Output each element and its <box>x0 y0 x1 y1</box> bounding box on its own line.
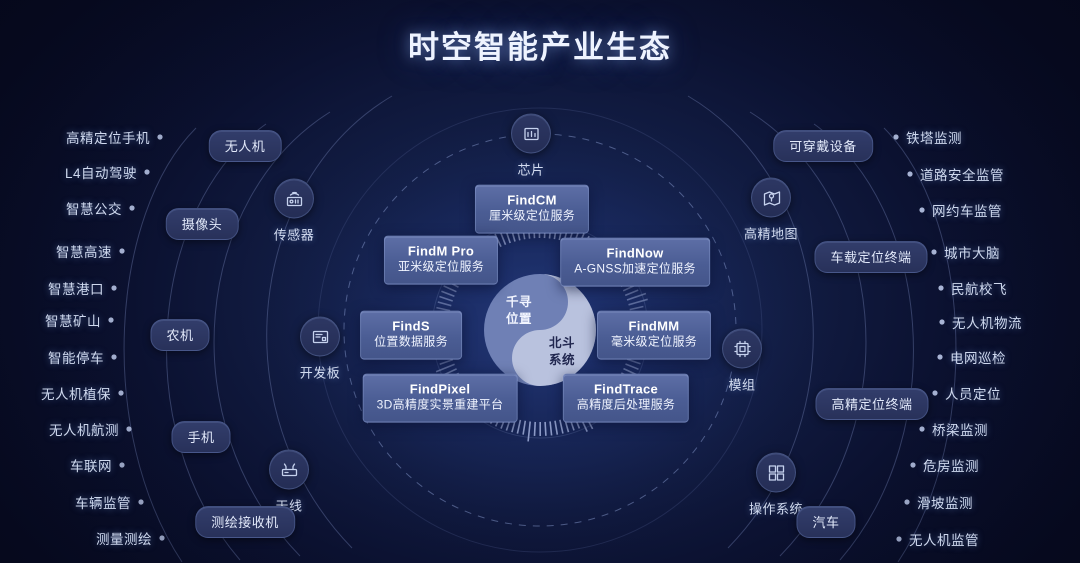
service-name: FindPixel <box>377 382 504 398</box>
icon-node-map[interactable]: 高精地图 <box>723 178 819 243</box>
scenario-label[interactable]: 无人机植保 <box>41 383 111 403</box>
scenario-label[interactable]: 人员定位 <box>945 383 1001 403</box>
service-box-finds[interactable]: FindS位置数据服务 <box>360 311 462 360</box>
connector-dot <box>931 249 936 254</box>
connector-dot <box>932 390 937 395</box>
connector-dot <box>919 426 924 431</box>
antenna-icon <box>269 450 309 490</box>
scenario-label[interactable]: 危房监测 <box>923 455 979 475</box>
page-title: 时空智能产业生态 <box>0 22 1080 67</box>
scenario-label[interactable]: 无人机物流 <box>952 312 1022 332</box>
core-label-beidou: 北斗 系统 <box>539 335 585 369</box>
connector-dot <box>118 390 123 395</box>
device-pill[interactable]: 车载定位终端 <box>814 241 927 273</box>
service-box-findm-pro[interactable]: FindM Pro亚米级定位服务 <box>384 236 498 285</box>
device-pill[interactable]: 手机 <box>171 421 230 453</box>
yin-yang-icon <box>482 272 598 388</box>
connector-dot <box>138 499 143 504</box>
service-desc: 毫米级定位服务 <box>611 335 697 351</box>
device-pill[interactable]: 无人机 <box>209 130 282 162</box>
icon-node-label: 开发板 <box>300 363 341 382</box>
device-pill[interactable]: 高精定位终端 <box>815 388 928 420</box>
scenario-label[interactable]: 车辆监管 <box>75 492 131 512</box>
connector-dot <box>144 169 149 174</box>
connector-dot <box>919 207 924 212</box>
connector-dot <box>111 354 116 359</box>
icon-node-board[interactable]: 开发板 <box>272 317 368 382</box>
scenario-label[interactable]: 铁塔监测 <box>906 127 962 147</box>
connector-dot <box>907 171 912 176</box>
service-box-findtrace[interactable]: FindTrace高精度后处理服务 <box>563 374 689 423</box>
service-desc: 亚米级定位服务 <box>398 260 484 276</box>
chip-icon <box>511 114 551 154</box>
connector-dot <box>157 134 162 139</box>
icon-node-antenna[interactable]: 天线 <box>241 450 337 515</box>
icon-node-chip[interactable]: 芯片 <box>483 114 579 179</box>
service-desc: 厘米级定位服务 <box>489 209 575 225</box>
scenario-label[interactable]: 车联网 <box>70 455 112 475</box>
icon-node-label: 传感器 <box>274 225 315 244</box>
connector-dot <box>939 319 944 324</box>
icon-node-label: 操作系统 <box>749 499 803 518</box>
scenario-label[interactable]: 滑坡监测 <box>917 492 973 512</box>
scenario-label[interactable]: 智慧矿山 <box>45 310 101 330</box>
connector-dot <box>108 317 113 322</box>
scenario-label[interactable]: 智能停车 <box>48 347 104 367</box>
core-label-qianxun: 千寻 位置 <box>496 294 542 328</box>
module-icon <box>722 329 762 369</box>
scenario-label[interactable]: 智慧港口 <box>48 278 104 298</box>
scenario-label[interactable]: 网约车监管 <box>932 200 1002 220</box>
connector-dot <box>129 205 134 210</box>
scenario-label[interactable]: 智慧高速 <box>56 241 112 261</box>
icon-node-label: 模组 <box>728 375 755 394</box>
connector-dot <box>119 248 124 253</box>
connector-dot <box>937 354 942 359</box>
service-name: FindMM <box>611 319 697 335</box>
device-pill[interactable]: 摄像头 <box>166 208 239 240</box>
scenario-label[interactable]: 测量测绘 <box>96 528 152 548</box>
scenario-label[interactable]: 无人机航测 <box>49 419 119 439</box>
service-name: FindNow <box>574 246 696 262</box>
diagram-canvas: 时空智能产业生态 千寻 位置 北斗 系统 FindCM厘米级定位服务FindM … <box>0 0 1080 563</box>
connector-dot <box>126 426 131 431</box>
device-pill[interactable]: 测绘接收机 <box>195 506 295 538</box>
service-name: FindM Pro <box>398 244 484 260</box>
connector-dot <box>159 535 164 540</box>
scenario-label[interactable]: 桥梁监测 <box>932 419 988 439</box>
connector-dot <box>938 285 943 290</box>
scenario-label[interactable]: 电网巡检 <box>950 347 1006 367</box>
os-icon <box>756 453 796 493</box>
connector-dot <box>893 134 898 139</box>
service-desc: A-GNSS加速定位服务 <box>574 262 696 278</box>
scenario-label[interactable]: 智慧公交 <box>66 198 122 218</box>
scenario-label[interactable]: 民航校飞 <box>951 278 1007 298</box>
scenario-label[interactable]: 道路安全监管 <box>920 164 1004 184</box>
service-box-findcm[interactable]: FindCM厘米级定位服务 <box>475 185 589 234</box>
service-name: FindTrace <box>577 382 675 398</box>
device-pill[interactable]: 汽车 <box>796 506 855 538</box>
service-desc: 高精度后处理服务 <box>577 398 675 414</box>
core-yin-yang: 千寻 位置 北斗 系统 <box>482 272 598 388</box>
service-name: FindCM <box>489 193 575 209</box>
connector-dot <box>119 462 124 467</box>
device-pill[interactable]: 农机 <box>150 319 209 351</box>
icon-node-sensor[interactable]: 传感器 <box>246 179 342 244</box>
board-icon <box>300 317 340 357</box>
scenario-label[interactable]: 城市大脑 <box>944 242 1000 262</box>
scenario-label[interactable]: 无人机监管 <box>909 529 979 549</box>
scenario-label[interactable]: 高精定位手机 <box>66 127 150 147</box>
connector-dot <box>910 462 915 467</box>
icon-node-label: 芯片 <box>517 160 544 179</box>
connector-dot <box>896 536 901 541</box>
service-name: FindS <box>374 319 448 335</box>
connector-dot <box>111 285 116 290</box>
device-pill[interactable]: 可穿戴设备 <box>773 130 873 162</box>
service-desc: 3D高精度实景重建平台 <box>377 398 504 414</box>
icon-node-module[interactable]: 模组 <box>694 329 790 394</box>
map-icon <box>751 178 791 218</box>
service-desc: 位置数据服务 <box>374 335 448 351</box>
service-box-findnow[interactable]: FindNowA-GNSS加速定位服务 <box>560 238 710 287</box>
service-box-findpixel[interactable]: FindPixel3D高精度实景重建平台 <box>363 374 518 423</box>
icon-node-label: 高精地图 <box>744 224 798 243</box>
sensor-icon <box>274 179 314 219</box>
connector-dot <box>904 499 909 504</box>
scenario-label[interactable]: L4自动驾驶 <box>65 162 137 182</box>
